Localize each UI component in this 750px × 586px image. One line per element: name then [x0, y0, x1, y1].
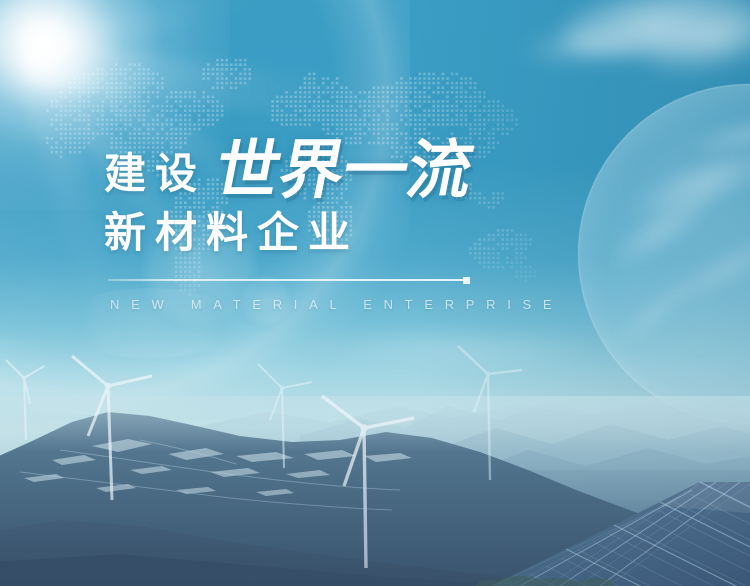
globe-cloud-swirl: [660, 219, 750, 315]
bottom-vignette: [0, 0, 750, 586]
cloud-wisp: [300, 330, 600, 370]
sun-ray: [27, 38, 449, 138]
sky-horizontal-shade: [0, 0, 750, 586]
globe-cloud-swirl: [688, 106, 750, 163]
headline-emphasis-text: 世界一流: [210, 139, 478, 203]
headline-line-1: 建设 世界一流: [104, 126, 664, 200]
headline-plain-text: 建设: [104, 153, 206, 195]
solar-panel-array: [492, 482, 750, 586]
headline-line-2: 新材料企业: [104, 212, 664, 254]
headline-block: 建设 世界一流 新材料企业: [104, 126, 664, 254]
globe-cloud-swirl: [607, 271, 700, 355]
cloud-wisp: [636, 0, 750, 89]
cloud-wisp: [556, 0, 750, 70]
divider: [108, 277, 470, 284]
subtitle-text: NEW MATERIAL ENTERPRISE: [110, 297, 563, 312]
sun-ray: [27, 0, 324, 64]
sky-background: [0, 0, 750, 586]
cloud-wisp: [518, 22, 641, 70]
divider-line: [108, 279, 463, 281]
hero-banner: 建设 世界一流 新材料企业 NEW MATERIAL ENTERPRISE: [0, 0, 750, 586]
divider-end-marker: [463, 277, 470, 284]
landscape-scene: [0, 300, 750, 586]
